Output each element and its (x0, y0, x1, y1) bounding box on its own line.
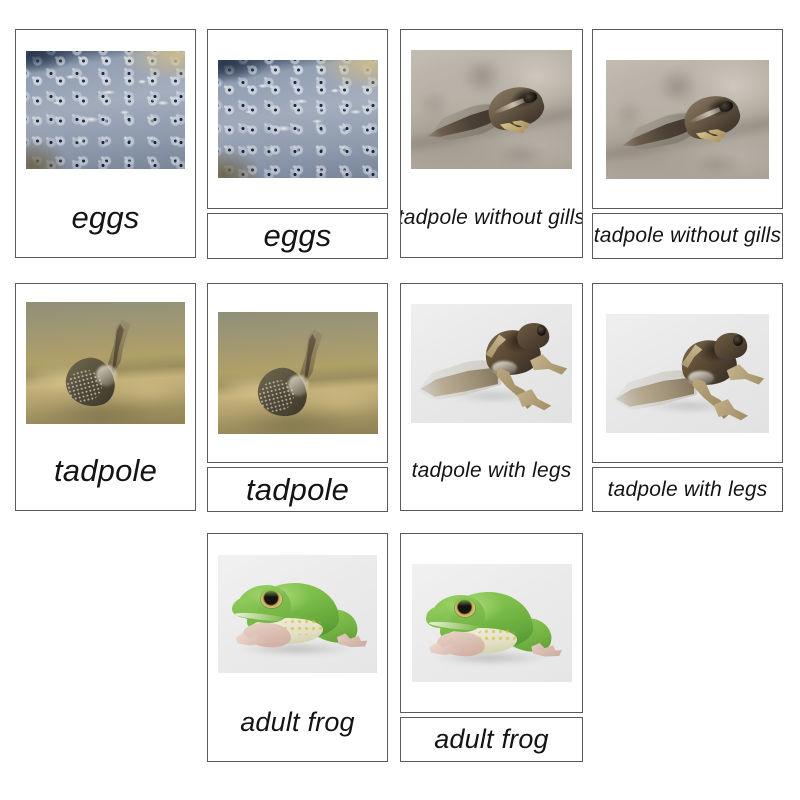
tadpole-head (515, 319, 552, 351)
frog-eyelid (453, 597, 477, 606)
card-tadpole-with-legs-picture-area (401, 284, 582, 432)
card-tadpole-without-gills-full[interactable]: tadpole without gills (400, 29, 583, 258)
card-adult-frog-full[interactable]: adult frog (207, 533, 388, 762)
caption-tadpole: tadpole (54, 453, 157, 489)
water-blur-right (106, 373, 186, 405)
card-tadpole-with-legs-caption-area: tadpole with legs (401, 432, 582, 510)
card-tadpole-with-legs-full[interactable]: tadpole with legs (400, 283, 583, 511)
caption-eggs: eggs (71, 200, 139, 236)
card-eggs-caption-area: eggs (16, 179, 195, 257)
card-tadpole-picture-area (16, 284, 195, 432)
card-tadpole-caption-area: tadpole (16, 432, 195, 510)
label-card-tadpole[interactable]: tadpole (207, 467, 388, 512)
frog-eyelid (259, 588, 283, 597)
egg-veil (218, 60, 378, 178)
card-adult-frog-picture-only[interactable] (400, 533, 583, 713)
card-adult-frog-caption-area: adult frog (208, 683, 387, 761)
card-tadpole-with-legs-picture-only[interactable] (592, 283, 783, 463)
caption-tadpole-without-gills: tadpole without gills (401, 206, 582, 230)
card-eggs-picture-area (16, 30, 195, 179)
tadpole-image-copy (218, 312, 378, 434)
water-blur-right (298, 383, 378, 415)
tadpole-eye (537, 325, 547, 336)
card-eggs-picture-only[interactable] (207, 29, 388, 209)
tadpole-belly-highlight (288, 375, 309, 396)
card-eggs-full[interactable]: eggs (15, 29, 196, 258)
water-blur-bottom (45, 402, 156, 424)
tadpole-image (26, 302, 185, 424)
frog-eggs-image (26, 51, 185, 169)
caption-eggs-label-card: eggs (263, 218, 331, 254)
card-tadpole-picture-only[interactable] (207, 283, 388, 463)
tadpole-without-gills-image (411, 50, 572, 169)
adult-frog-image-copy (412, 564, 572, 682)
label-card-tadpole-without-gills[interactable]: tadpole without gills (592, 213, 783, 259)
label-card-tadpole-with-legs[interactable]: tadpole with legs (592, 467, 783, 512)
tadpole-with-legs-image-copy (606, 314, 769, 433)
label-card-adult-frog[interactable]: adult frog (400, 717, 583, 762)
card-tadpole-without-gills-caption-area: tadpole without gills (401, 179, 582, 257)
caption-tadpole-with-legs: tadpole with legs (412, 459, 572, 483)
tadpole-belly-highlight (96, 365, 117, 386)
adult-frog-image (218, 555, 377, 673)
card-adult-frog-picture-area (208, 534, 387, 683)
caption-adult-frog-label-card: adult frog (434, 724, 549, 755)
egg-veil (26, 51, 185, 169)
card-tadpole-full[interactable]: tadpole (15, 283, 196, 511)
tadpole-with-legs-image (411, 304, 572, 423)
frog-eggs-image-copy (218, 60, 378, 178)
caption-tadpole-label-card: tadpole (246, 472, 349, 508)
tadpole-without-gills-image-copy (606, 60, 769, 179)
caption-tadpole-without-gills-label-card: tadpole without gills (594, 224, 781, 248)
caption-adult-frog: adult frog (240, 707, 355, 738)
card-tadpole-without-gills-picture-only[interactable] (592, 29, 783, 209)
caption-tadpole-with-legs-label-card: tadpole with legs (608, 478, 768, 502)
water-blur-bottom (237, 412, 349, 434)
label-card-eggs[interactable]: eggs (207, 213, 388, 259)
card-tadpole-without-gills-picture-area (401, 30, 582, 179)
card-board: eggs eggs (0, 0, 800, 800)
tadpole-eye (733, 335, 743, 346)
